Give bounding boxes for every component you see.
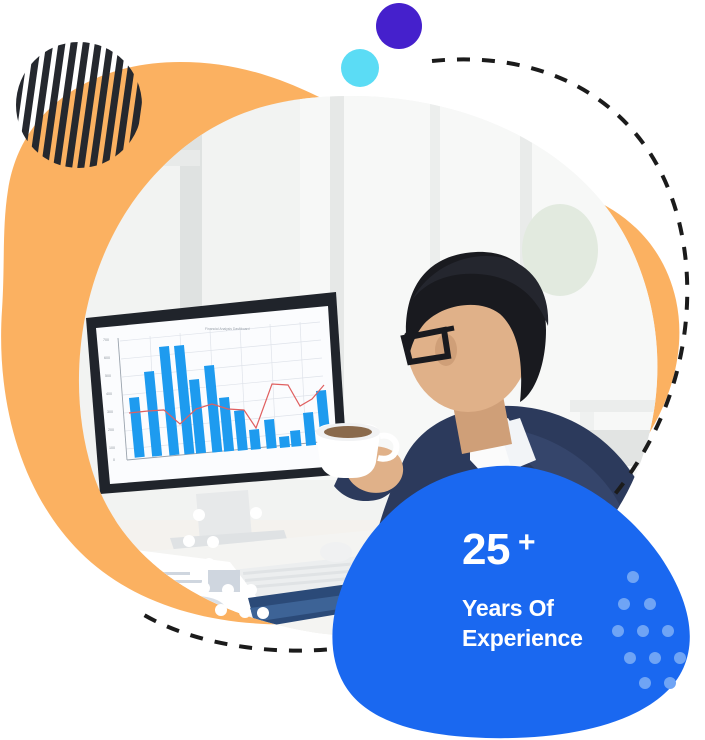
blue-badge-layer (0, 0, 705, 740)
hero-illustration: 700 600 500 400 300 200 100 0 Financial … (0, 0, 705, 740)
blue-badge-blob (332, 466, 689, 738)
